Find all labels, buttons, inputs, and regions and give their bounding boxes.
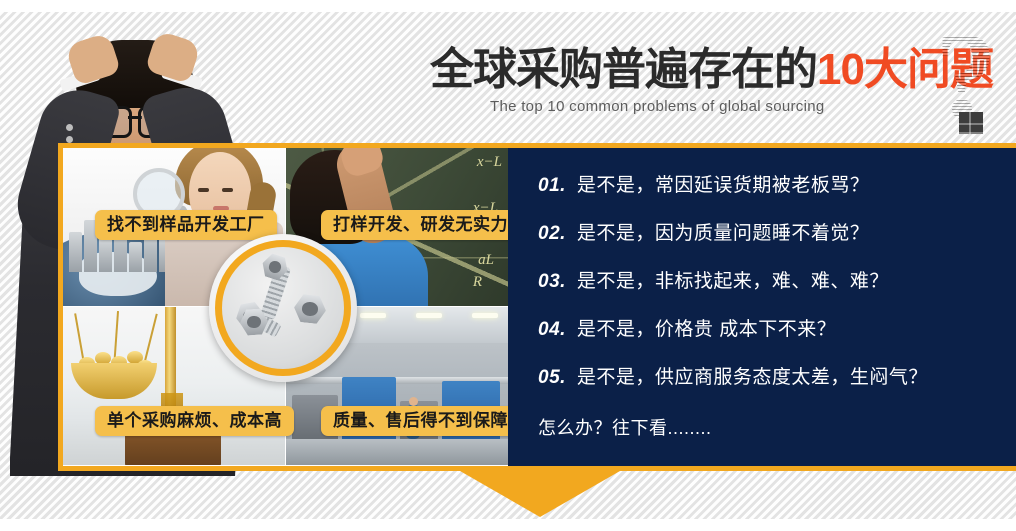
question-text-2: 是不是，因为质量问题睡不着觉？ (577, 222, 870, 246)
chalk-formula-1: x−L (477, 154, 502, 171)
question-mark-dot-icon (959, 112, 983, 134)
scale-pan (71, 363, 157, 399)
question-number-1: 01. (538, 174, 566, 198)
question-item-5: 05. 是不是，供应商服务态度太差，生闷气？ (538, 366, 1016, 390)
question-item-3: 03. 是不是，非标找起来，难、难、难？ (538, 270, 1016, 294)
girl-eye-right (222, 188, 233, 192)
loose-nut-1 (293, 293, 328, 324)
photo-collage: x−L x−L R aL R (63, 148, 508, 466)
question-text-4: 是不是，价格贵 成本下不来？ (577, 318, 836, 342)
badge-quality-service: 质量、售后得不到保障 (321, 406, 508, 436)
questions-outro: 怎么办？往下看........ (538, 414, 1016, 440)
question-text-1: 是不是，常因延误货期被老板骂？ (577, 174, 870, 198)
chalk-formula-4: aL (478, 252, 494, 269)
question-text-3: 是不是，非标找起来，难、难、难？ (577, 270, 889, 294)
question-number-3: 03. (538, 270, 566, 294)
badge-single-purchase: 单个采购麻烦、成本高 (95, 406, 294, 436)
badge-rnd-weak: 打样开发、研发无实力 (321, 210, 508, 240)
question-item-2: 02. 是不是，因为质量问题睡不着觉？ (538, 222, 1016, 246)
page-title: 全球采购普遍存在的10大问题 (430, 44, 1016, 96)
question-number-4: 04. (538, 318, 566, 342)
question-text-5: 是不是，供应商服务态度太差，生闷气？ (577, 366, 928, 390)
factory-floor (286, 439, 508, 465)
question-number-2: 02. (538, 222, 566, 246)
girl-eye-left (198, 188, 209, 192)
page-title-dark: 全球采购普遍存在的 (430, 45, 817, 94)
content-card: x−L x−L R aL R (58, 143, 1016, 471)
emblem-ring (215, 240, 351, 376)
background-top-band (0, 0, 1016, 12)
chalk-formula-5: R (473, 274, 482, 291)
question-item-1: 01. 是不是，常因延误货期被老板骂？ (538, 174, 1016, 198)
emblem-fasteners (209, 234, 357, 382)
question-number-5: 05. (538, 366, 566, 390)
badge-sample-factory: 找不到样品开发工厂 (95, 210, 277, 240)
headline-block: 全球采购普遍存在的10大问题 The top 10 common problem… (430, 44, 1016, 136)
question-item-4: 04. 是不是，价格贵 成本下不来？ (538, 318, 1016, 342)
questions-panel: 01. 是不是，常因延误货期被老板骂？ 02. 是不是，因为质量问题睡不着觉？ … (508, 148, 1016, 466)
poster-stage: 全球采购普遍存在的10大问题 The top 10 common problem… (0, 0, 1016, 531)
background-bottom-band (0, 519, 1016, 531)
